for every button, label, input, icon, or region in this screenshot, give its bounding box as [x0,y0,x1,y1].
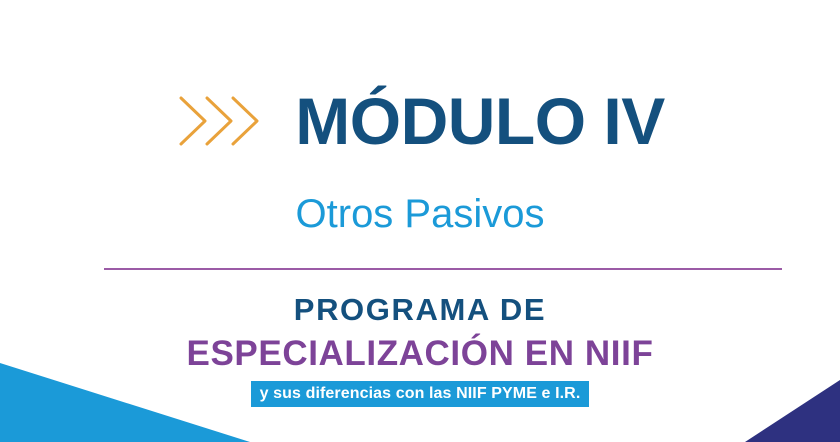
badge-row: y sus diferencias con las NIIF PYME e I.… [0,381,840,408]
program-heading-line2: ESPECIALIZACIÓN EN NIIF [0,333,840,375]
title-row: MÓDULO IV [0,88,840,154]
program-subtitle-badge: y sus diferencias con las NIIF PYME e I.… [251,381,590,408]
program-section: PROGRAMA DE ESPECIALIZACIÓN EN NIIF y su… [0,292,840,407]
hero-section: MÓDULO IV Otros Pasivos [0,0,840,268]
page-title: MÓDULO IV [295,88,665,154]
page-subtitle: Otros Pasivos [0,192,840,236]
slide-canvas: MÓDULO IV Otros Pasivos PROGRAMA DE ESPE… [0,0,840,442]
triple-chevron-right-icon [175,92,267,150]
program-heading-line1: PROGRAMA DE [0,292,840,329]
section-divider [104,268,782,270]
